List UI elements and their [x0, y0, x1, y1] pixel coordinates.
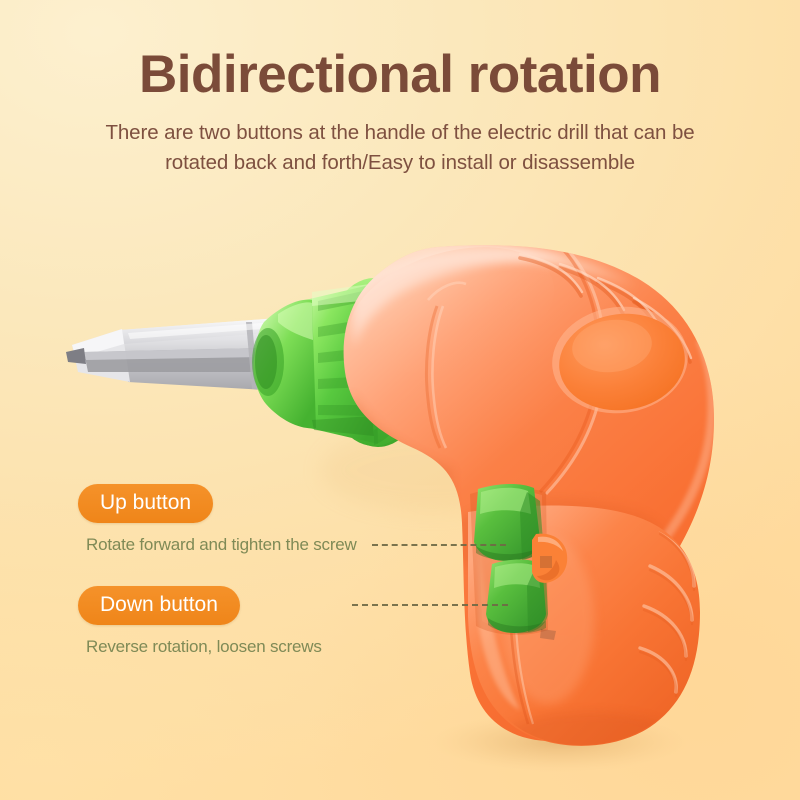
callout-up-button: Up button Rotate forward and tighten the…	[78, 484, 357, 555]
up-button-pill[interactable]: Up button	[78, 484, 213, 523]
callout-down-button: Down button Reverse rotation, loosen scr…	[78, 586, 322, 657]
page-title: Bidirectional rotation	[0, 48, 800, 102]
leader-line-up-button	[372, 544, 506, 546]
header-block: Bidirectional rotation There are two but…	[0, 48, 800, 177]
down-button-pill[interactable]: Down button	[78, 586, 240, 625]
page-subtitle: There are two buttons at the handle of t…	[95, 118, 705, 177]
down-button-description: Reverse rotation, loosen screws	[86, 637, 322, 657]
leader-line-down-button	[352, 604, 508, 606]
up-button-description: Rotate forward and tighten the screw	[86, 535, 357, 555]
product-feature-graphic: Bidirectional rotation There are two but…	[0, 0, 800, 800]
